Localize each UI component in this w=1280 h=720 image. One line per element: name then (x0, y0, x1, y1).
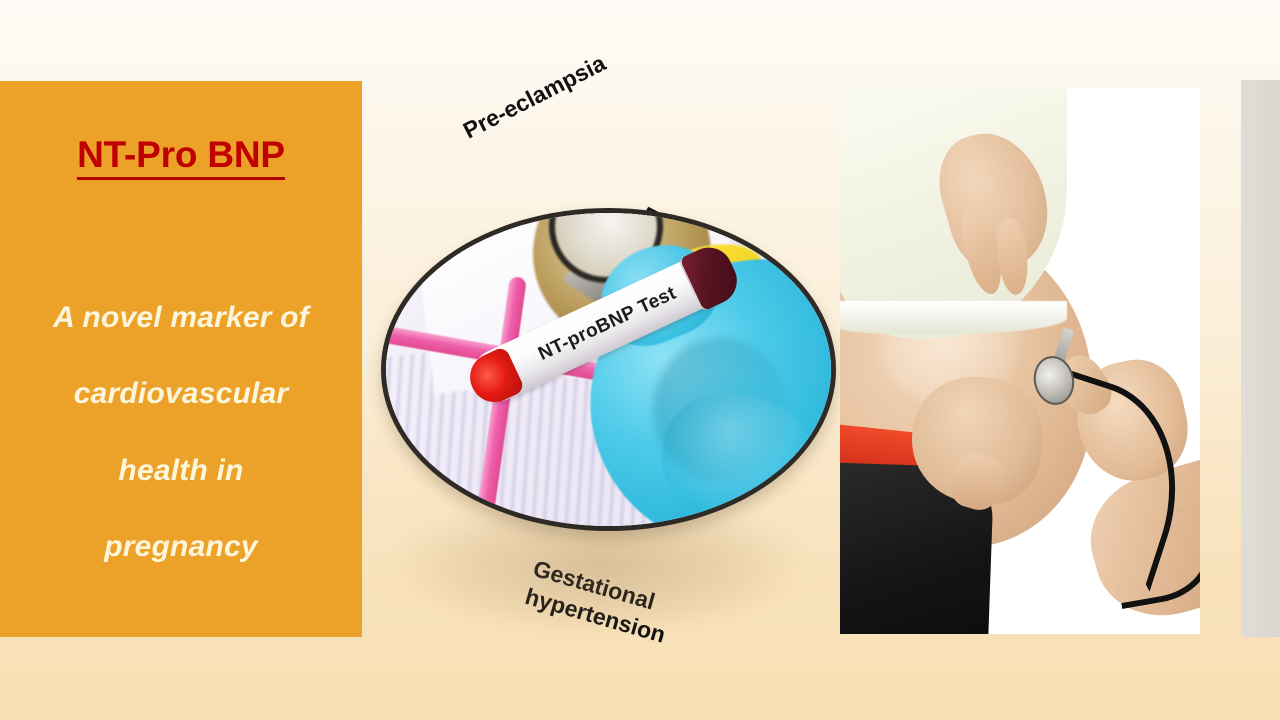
label-pre-eclampsia: Pre-eclampsia (459, 50, 610, 145)
pregnancy-photo (840, 88, 1200, 634)
page-title: NT-Pro BNP (77, 136, 285, 180)
subtitle-line-1: A novel marker of (16, 280, 346, 357)
subtitle-line-2: cardiovascular (16, 356, 346, 433)
oval-photo-content: NT-proBNP Test (386, 213, 831, 526)
right-edge-panel (1241, 80, 1280, 637)
subtitle-block: A novel marker of cardiovascular health … (16, 280, 346, 586)
oval-test-tube-image: NT-proBNP Test (381, 208, 836, 531)
garment-hem (840, 301, 1067, 334)
title-panel: NT-Pro BNP A novel marker of cardiovascu… (0, 81, 362, 637)
subtitle-line-4: pregnancy (16, 509, 346, 586)
glove-shadow (653, 338, 787, 482)
subtitle-line-3: health in (16, 433, 346, 510)
center-cluster: Pre-eclampsia Fetal outcomes Gestational… (365, 75, 835, 655)
